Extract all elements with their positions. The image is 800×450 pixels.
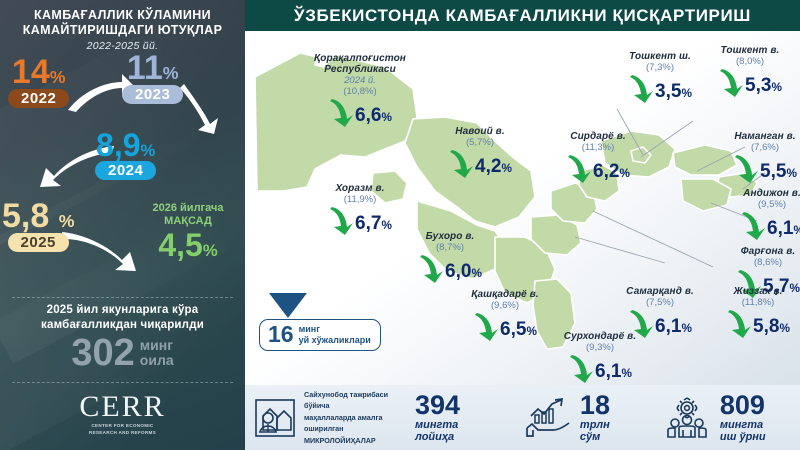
poverty-exit-block: 2025 йил якунларига кўра камбағалликдан … [0, 303, 245, 372]
cerr-logo-subtitle-line2: RESEARCH AND REFORMS [0, 430, 245, 436]
footer-number-block: 18 трлн сўм [580, 392, 610, 444]
cerr-logo: CERR CENTER FOR ECONOMIC RESEARCH AND RE… [0, 392, 245, 436]
exit-unit-line2: оила [140, 353, 174, 368]
exit-unit: минг оила [140, 338, 174, 368]
growth-chart-hand-icon [525, 396, 573, 440]
footer-number: 394 [415, 392, 460, 419]
panel-title: КАМБАҒАЛЛИК КЎЛАМИНИ КАМАЙТИРИШДАГИ ЮТУҚ… [0, 0, 245, 38]
year-stat-2024: 8,9% 2024 [95, 130, 156, 180]
exit-line2: камбағалликдан чиқарилди [0, 318, 245, 333]
footer-unit-line2: иш ўрни [720, 431, 766, 444]
panel-title-line2: КАМАЙТИРИШДАГИ ЮТУҚЛАР [8, 23, 237, 38]
goal-value: 4,5% [133, 229, 243, 261]
footer-desc-line3: оширилган МИКРОЛОЙИҲАЛАР [304, 423, 408, 446]
region-shape-xorazm [371, 171, 407, 203]
footer-unit-line2: лойиҳа [415, 431, 460, 444]
year-2025-value: 5,8 % [2, 200, 74, 232]
footer-description: Сайхунобод тажрибаси бўйича маҳаллаларда… [304, 389, 408, 447]
legend-text-line2: уй хўжаликлари [299, 335, 371, 346]
divider-top [12, 297, 233, 298]
year-2025-label: 2025 [8, 233, 69, 252]
panel-subtitle: 2022-2025 йй. [0, 40, 245, 52]
cerr-logo-subtitle-line1: CENTER FOR ECONOMIC [0, 423, 245, 429]
footer-unit-line2: сўм [580, 431, 610, 444]
footer-number: 809 [720, 392, 766, 419]
year-2023-value: 11% [122, 52, 183, 84]
exit-unit-line1: минг [140, 338, 174, 353]
legend-text: минг уй хўжаликлари [299, 324, 371, 346]
footer-desc-line1: Сайхунобод тажрибаси бўйича [304, 389, 408, 412]
legend-number: 16 [268, 323, 294, 346]
header-title: ЎЗБЕКИСТОНДА КАМБАҒАЛЛИКНИ ҚИСҚАРТИРИШ [294, 6, 751, 26]
header-bar: ЎЗБЕКИСТОНДА КАМБАҒАЛЛИКНИ ҚИСҚАРТИРИШ [245, 0, 800, 31]
year-stat-2022: 14% 2022 [8, 56, 69, 108]
year-2024-value: 8,9% [95, 130, 156, 160]
year-stat-2023: 11% 2023 [122, 52, 183, 104]
exit-line1: 2025 йил якунларига кўра [0, 303, 245, 318]
region-shape-namangan [673, 145, 737, 175]
footer-item-jobs: 809 мингта иш ўрни [661, 392, 792, 444]
year-2022-value: 14% [8, 56, 69, 88]
footer-item-investment: 18 трлн сўм [525, 392, 661, 444]
footer-unit-line1: трлн [580, 419, 610, 432]
year-2022-label: 2022 [8, 89, 69, 108]
footer-desc-line2: маҳаллаларда амалга [304, 412, 408, 424]
legend-triangle-icon [269, 293, 307, 318]
footer-unit-line1: мингта [720, 419, 766, 432]
footer-number-block: 809 мингта иш ўрни [720, 392, 766, 444]
exit-number-row: 302 минг оила [0, 334, 245, 372]
people-gear-icon [661, 396, 713, 440]
map-area: Қорақалпоғистон Республикаси 2024 й. (10… [245, 31, 800, 385]
panel-title-line1: КАМБАҒАЛЛИК КЎЛАМИНИ [8, 8, 237, 23]
map-legend: 16 минг уй хўжаликлари [259, 293, 381, 351]
region-shape-karakalpakstan [255, 53, 417, 191]
footer-item-microprojects: Сайхунобод тажрибаси бўйича маҳаллаларда… [253, 389, 525, 447]
left-summary-panel: КАМБАҒАЛЛИК КЎЛАМИНИ КАМАЙТИРИШДАГИ ЮТУҚ… [0, 0, 245, 450]
arrow-2023-to-2024-icon [178, 80, 222, 136]
exit-number: 302 [71, 334, 134, 372]
footer-number-block: 394 мингта лойиҳа [415, 392, 460, 444]
footer-stats-bar: Сайхунобод тажрибаси бўйича маҳаллаларда… [245, 385, 800, 450]
divider-bottom [12, 382, 233, 383]
footer-unit-line1: мингта [415, 419, 460, 432]
year-2024-label: 2024 [95, 161, 156, 180]
goal-label-line1: 2026 йилгача [133, 202, 243, 215]
mahalla-house-icon [253, 396, 297, 440]
year-2023-label: 2023 [122, 85, 183, 104]
year-stat-2025: 5,8 % 2025 [2, 200, 74, 252]
goal-2026-block: 2026 йилгача МАҚСАД 4,5% [133, 202, 243, 261]
cerr-logo-text: CERR [0, 392, 245, 422]
legend-text-line1: минг [299, 324, 371, 335]
region-shape-surxondaryo [533, 279, 575, 349]
legend-box: 16 минг уй хўжаликлари [259, 319, 381, 351]
footer-number: 18 [580, 392, 610, 419]
